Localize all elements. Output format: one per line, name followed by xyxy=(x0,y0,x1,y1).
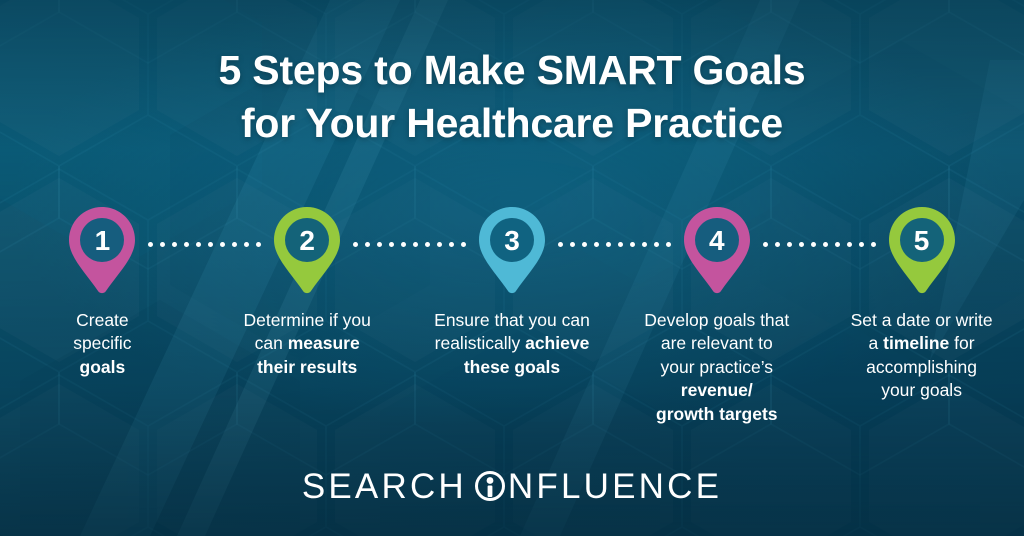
caption-text: your goals xyxy=(881,380,962,400)
connector-dots-4-to-5 xyxy=(763,241,876,247)
connector-dots-1-to-2 xyxy=(148,241,261,247)
caption-text: a xyxy=(869,333,884,353)
connector-dot xyxy=(208,242,213,247)
connector-dot xyxy=(666,242,671,247)
caption-text: accomplishing xyxy=(866,357,977,377)
connector-dot xyxy=(811,242,816,247)
connector-dot xyxy=(160,242,165,247)
connector-dot xyxy=(196,242,201,247)
caption-line: are relevant to xyxy=(625,332,809,355)
connector-dot xyxy=(461,242,466,247)
caption-line: Ensure that you can xyxy=(420,309,604,332)
logo-word-influence: NFLUENCE xyxy=(508,469,722,504)
connector-dot xyxy=(871,242,876,247)
connector-dot xyxy=(413,242,418,247)
caption-emphasis: achieve xyxy=(525,333,589,353)
caption-text: can xyxy=(255,333,288,353)
step-number-2: 2 xyxy=(271,206,343,276)
caption-text: Ensure that you can xyxy=(434,310,590,330)
connector-dot xyxy=(570,242,575,247)
step-marker-4[interactable]: 4 xyxy=(681,206,753,294)
connector-dot xyxy=(763,242,768,247)
connector-dot xyxy=(148,242,153,247)
connector-dot xyxy=(256,242,261,247)
caption-emphasis: growth targets xyxy=(656,404,778,424)
connector-dot xyxy=(389,242,394,247)
caption-emphasis: revenue/ xyxy=(681,380,753,400)
step-marker-2[interactable]: 2 xyxy=(271,206,343,294)
connector-dot xyxy=(654,242,659,247)
connector-dot xyxy=(847,242,852,247)
connector-dot xyxy=(606,242,611,247)
connector-dot xyxy=(172,242,177,247)
caption-text: for xyxy=(949,333,974,353)
caption-line: a timeline for xyxy=(830,332,1014,355)
caption-emphasis: measure xyxy=(288,333,360,353)
title-line-2: for Your Healthcare Practice xyxy=(0,97,1024,150)
step-3: 3Ensure that you canrealistically achiev… xyxy=(410,206,615,426)
step-caption-1: Createspecificgoals xyxy=(10,309,194,379)
step-number-4: 4 xyxy=(681,206,753,276)
title-line-1: 5 Steps to Make SMART Goals xyxy=(0,44,1024,97)
caption-text: Create xyxy=(76,310,129,330)
caption-line: specific xyxy=(10,332,194,355)
caption-line: these goals xyxy=(420,356,604,379)
connector-dots-3-to-4 xyxy=(558,241,671,247)
caption-line: Develop goals that xyxy=(625,309,809,332)
caption-line: Create xyxy=(10,309,194,332)
connector-dot xyxy=(799,242,804,247)
caption-text: are relevant to xyxy=(661,333,773,353)
connector-dot xyxy=(425,242,430,247)
step-marker-3[interactable]: 3 xyxy=(476,206,548,294)
connector-dots-2-to-3 xyxy=(353,241,466,247)
caption-text: Set a date or write xyxy=(851,310,993,330)
brand-logo: SEARCH NFLUENCE xyxy=(0,469,1024,504)
step-5: 5Set a date or writea timeline foraccomp… xyxy=(819,206,1024,426)
connector-dot xyxy=(558,242,563,247)
caption-line: revenue/ xyxy=(625,379,809,402)
connector-dot xyxy=(594,242,599,247)
connector-dot xyxy=(835,242,840,247)
connector-dot xyxy=(775,242,780,247)
connector-dot xyxy=(184,242,189,247)
connector-dot xyxy=(232,242,237,247)
connector-dot xyxy=(582,242,587,247)
step-marker-5[interactable]: 5 xyxy=(886,206,958,294)
connector-dot xyxy=(823,242,828,247)
connector-dot xyxy=(449,242,454,247)
caption-line: can measure xyxy=(215,332,399,355)
connector-dot xyxy=(437,242,442,247)
caption-line: accomplishing xyxy=(830,356,1014,379)
connector-dot xyxy=(365,242,370,247)
step-number-3: 3 xyxy=(476,206,548,276)
caption-line: realistically achieve xyxy=(420,332,604,355)
connector-dot xyxy=(618,242,623,247)
lightbulb-i-icon xyxy=(473,470,507,504)
caption-line: their results xyxy=(215,356,399,379)
step-caption-5: Set a date or writea timeline foraccompl… xyxy=(830,309,1014,403)
caption-emphasis: these goals xyxy=(464,357,560,377)
caption-text: specific xyxy=(73,333,131,353)
step-1: 1Createspecificgoals xyxy=(0,206,205,426)
caption-line: Determine if you xyxy=(215,309,399,332)
connector-dot xyxy=(244,242,249,247)
step-caption-4: Develop goals thatare relevant toyour pr… xyxy=(625,309,809,426)
caption-text: your practice’s xyxy=(661,357,774,377)
caption-emphasis: timeline xyxy=(883,333,949,353)
caption-text: Develop goals that xyxy=(644,310,789,330)
page-title: 5 Steps to Make SMART Goals for Your Hea… xyxy=(0,44,1024,151)
step-4: 4Develop goals thatare relevant toyour p… xyxy=(614,206,819,426)
connector-dot xyxy=(859,242,864,247)
caption-emphasis: goals xyxy=(80,357,126,377)
step-number-5: 5 xyxy=(886,206,958,276)
caption-line: your goals xyxy=(830,379,1014,402)
infographic-canvas: 5 Steps to Make SMART Goals for Your Hea… xyxy=(0,0,1024,536)
connector-dot xyxy=(401,242,406,247)
connector-dot xyxy=(630,242,635,247)
connector-dot xyxy=(353,242,358,247)
step-caption-3: Ensure that you canrealistically achieve… xyxy=(420,309,604,379)
step-marker-1[interactable]: 1 xyxy=(66,206,138,294)
caption-text: Determine if you xyxy=(243,310,370,330)
connector-dot xyxy=(377,242,382,247)
connector-dot xyxy=(642,242,647,247)
caption-emphasis: their results xyxy=(257,357,357,377)
caption-line: Set a date or write xyxy=(830,309,1014,332)
step-caption-2: Determine if youcan measuretheir results xyxy=(215,309,399,379)
step-number-1: 1 xyxy=(66,206,138,276)
connector-dot xyxy=(787,242,792,247)
steps-row: 1Createspecificgoals2Determine if youcan… xyxy=(0,206,1024,426)
caption-line: your practice’s xyxy=(625,356,809,379)
caption-line: growth targets xyxy=(625,403,809,426)
logo-word-search: SEARCH xyxy=(302,469,467,504)
caption-text: realistically xyxy=(435,333,525,353)
connector-dot xyxy=(220,242,225,247)
step-2: 2Determine if youcan measuretheir result… xyxy=(205,206,410,426)
caption-line: goals xyxy=(10,356,194,379)
